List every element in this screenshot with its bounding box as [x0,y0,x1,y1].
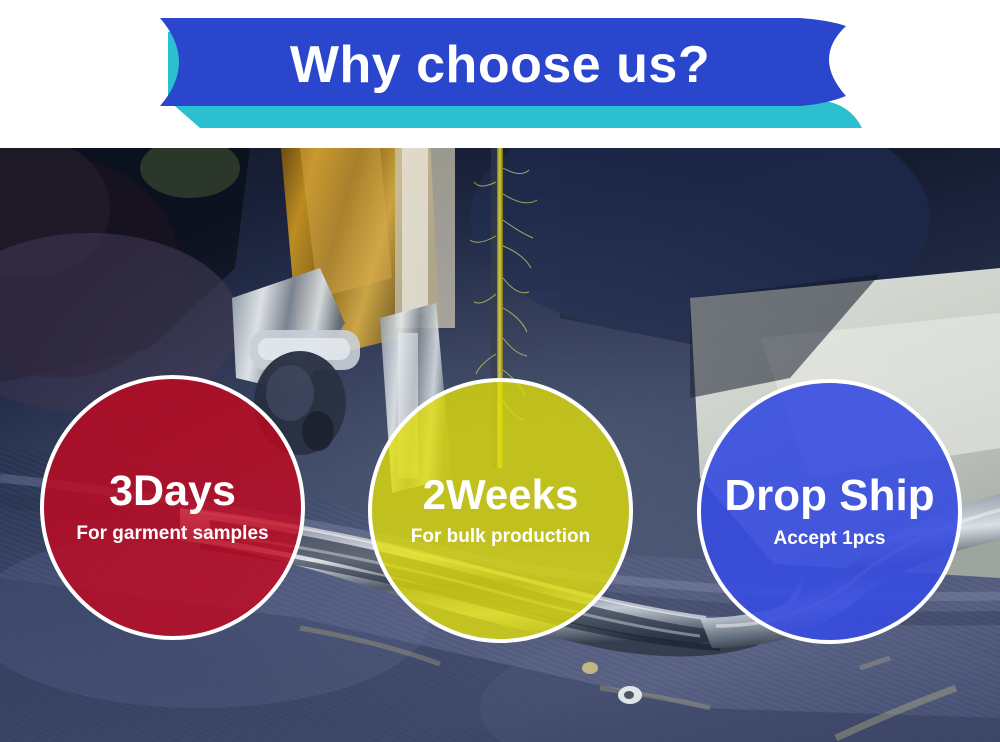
promo-banner-page: Why choose us? [0,0,1000,742]
page-title: Why choose us? [190,22,810,108]
feature-subtext-samples: For garment samples [76,523,268,546]
feature-headline-samples: 3Days [109,469,236,514]
feature-headline-bulk: 2Weeks [423,473,579,517]
feature-circle-bulk[interactable]: 2Weeks For bulk production [368,378,633,643]
feature-circle-dropship[interactable]: Drop Ship Accept 1pcs [697,379,962,644]
feature-subtext-bulk: For bulk production [411,526,590,549]
background-photo: 3Days For garment samples 2Weeks For bul… [0,148,1000,742]
feature-headline-dropship: Drop Ship [724,473,934,519]
feature-subtext-dropship: Accept 1pcs [774,528,886,551]
feature-circle-samples[interactable]: 3Days For garment samples [40,375,305,640]
header-banner: Why choose us? [0,0,1000,148]
